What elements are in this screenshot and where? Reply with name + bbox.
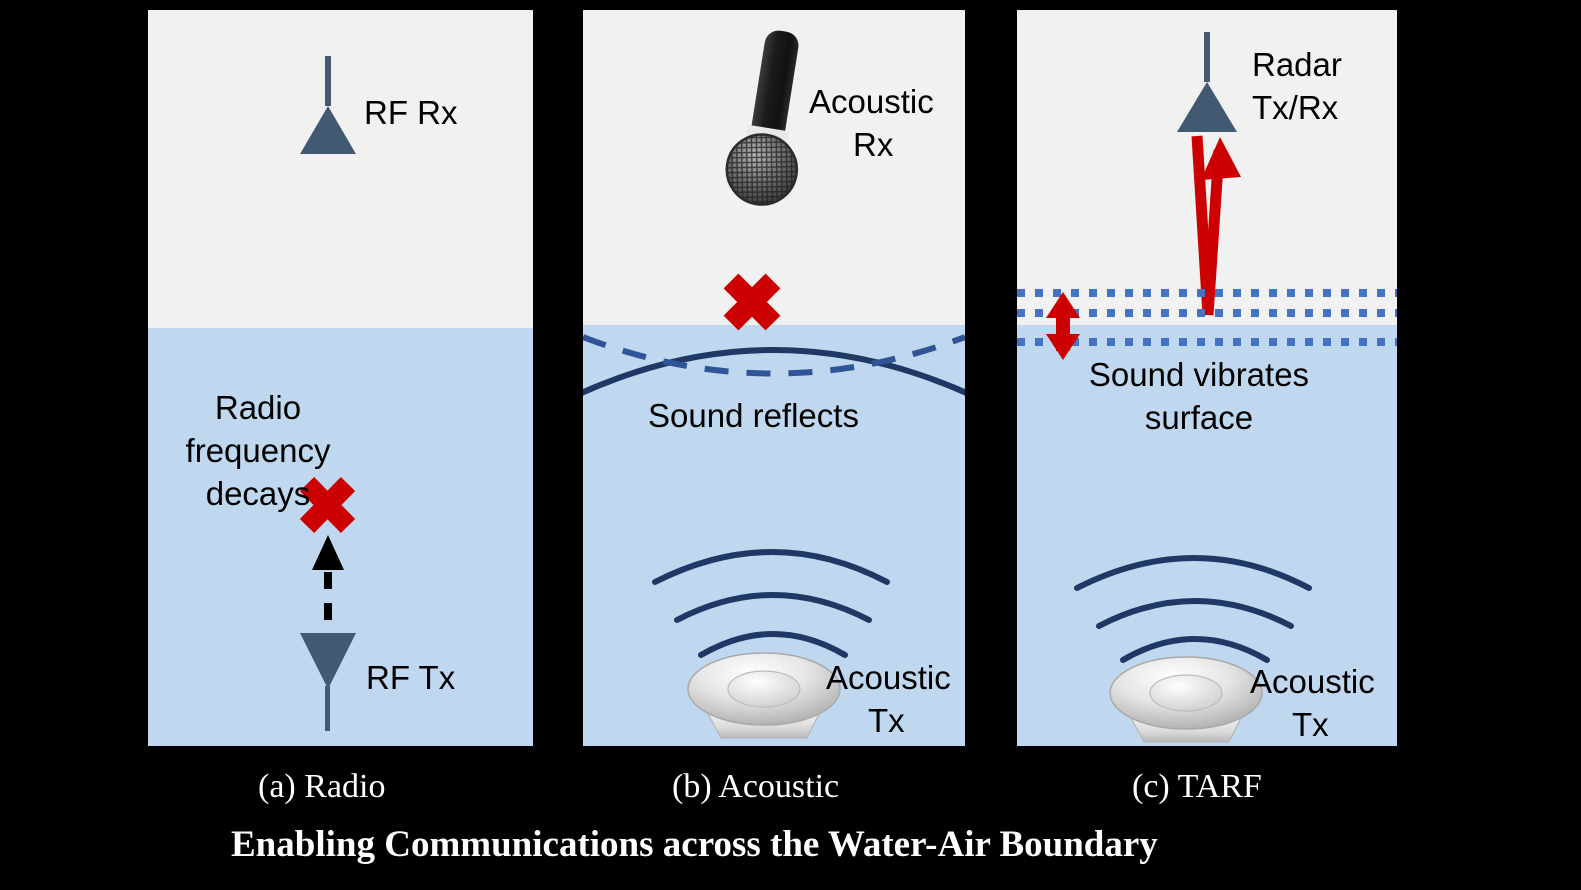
panel-a-rf-rx-label: RF Rx	[364, 93, 458, 132]
caption-panel-c: (c) TARF	[1132, 768, 1262, 806]
panel-c-radar-label-1: Radar	[1252, 45, 1342, 84]
panel-b-acoustic-rx-label-2: Rx	[853, 125, 893, 164]
sound-waves-icon	[1077, 558, 1309, 660]
panel-b-acoustic-tx-label-2: Tx	[868, 701, 905, 740]
radar-beam-arrow-icon	[1197, 136, 1241, 315]
panel-c-acoustic-tx-label-2: Tx	[1292, 705, 1329, 744]
speaker-icon	[688, 653, 840, 738]
speaker-icon	[1110, 657, 1262, 742]
reflection-arcs-icon	[583, 337, 965, 395]
panel-acoustic: Acoustic Rx Sound reflects Acoustic Tx	[583, 10, 965, 746]
panel-tarf: Radar Tx/Rx Sound vibrates surface Acous…	[1017, 10, 1397, 746]
panel-radio: RF Rx Radio frequency decays RF Tx	[148, 10, 533, 746]
panel-c-surface-label-2: surface	[1039, 398, 1359, 437]
figure-canvas: RF Rx Radio frequency decays RF Tx	[0, 0, 1581, 890]
vibration-double-arrow-icon	[1046, 292, 1080, 360]
caption-panel-b: (b) Acoustic	[672, 768, 839, 806]
dashed-up-arrow-icon	[312, 535, 344, 620]
panel-a-radio-label-2: frequency	[148, 431, 368, 470]
microphone-icon	[722, 26, 819, 210]
panel-c-radar-label-2: Tx/Rx	[1252, 88, 1338, 127]
sound-waves-icon	[655, 552, 887, 655]
panel-b-acoustic-tx-label-1: Acoustic	[826, 658, 951, 697]
panel-b-sound-reflects-label: Sound reflects	[648, 396, 859, 435]
panel-c-surface-label-1: Sound vibrates	[1039, 355, 1359, 394]
figure-title: Enabling Communications across the Water…	[231, 823, 1158, 866]
caption-panel-a: (a) Radio	[258, 768, 385, 806]
red-x-icon	[731, 281, 773, 323]
panel-a-radio-label-3: decays	[158, 474, 358, 513]
panel-a-graphics	[148, 10, 533, 746]
panel-a-rf-tx-label: RF Tx	[366, 658, 455, 697]
radar-antenna-icon	[1177, 32, 1237, 132]
rf-rx-antenna-icon	[300, 56, 356, 154]
panel-a-radio-label-1: Radio	[158, 388, 358, 427]
panel-c-acoustic-tx-label-1: Acoustic	[1250, 662, 1375, 701]
panel-b-acoustic-rx-label-1: Acoustic	[809, 82, 934, 121]
rf-tx-antenna-icon	[300, 633, 356, 731]
